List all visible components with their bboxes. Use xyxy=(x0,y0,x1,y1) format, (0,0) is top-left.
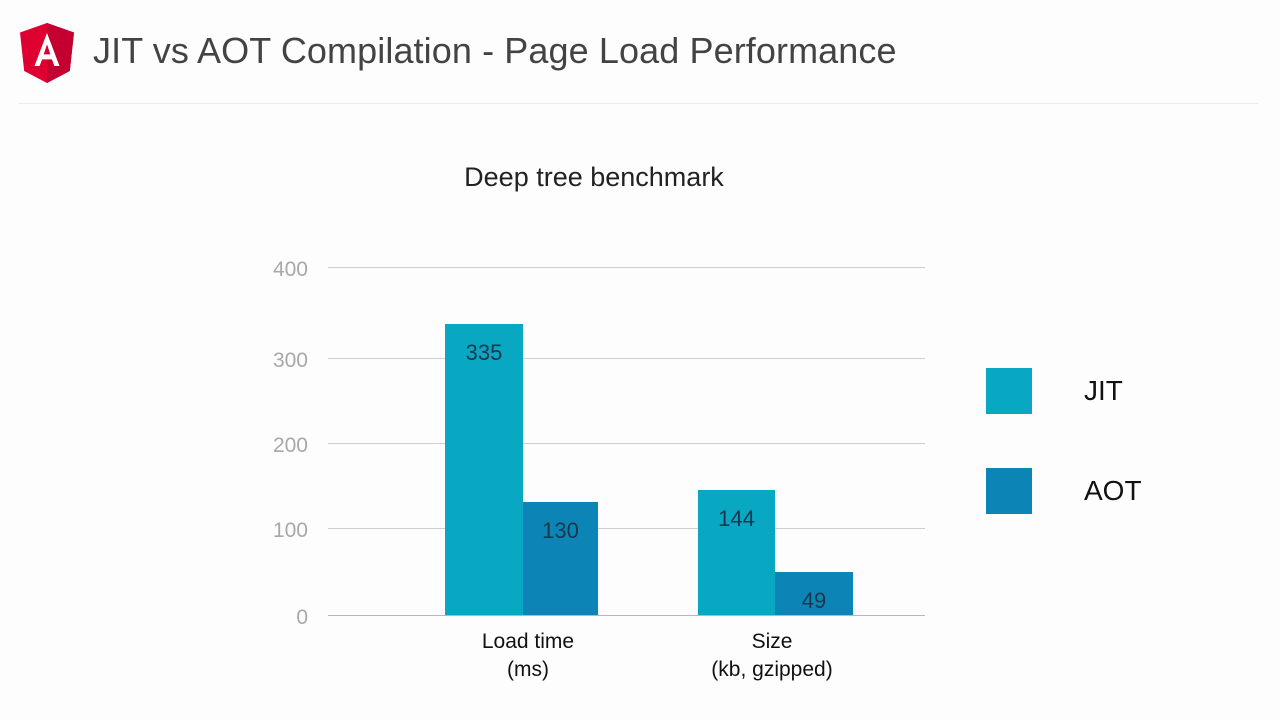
legend-swatch-aot-icon xyxy=(986,468,1032,514)
gridline-300 xyxy=(328,358,925,359)
gridline-200 xyxy=(328,443,925,444)
slide-header: JIT vs AOT Compilation - Page Load Perfo… xyxy=(0,0,1280,104)
bar-aot-load-time[interactable]: 130 xyxy=(523,502,598,615)
bar-jit-load-time[interactable]: 335 xyxy=(445,324,523,615)
category-label-size: Size (kb, gzipped) xyxy=(652,628,892,683)
ytick-label-300: 300 xyxy=(188,350,308,371)
axis-baseline xyxy=(328,615,925,616)
chart-region: Deep tree benchmark 400 300 200 100 0 33… xyxy=(0,104,1280,720)
ytick-label-0: 0 xyxy=(188,607,308,628)
ytick-label-100: 100 xyxy=(188,520,308,541)
legend-swatch-jit-icon xyxy=(986,368,1032,414)
bar-value-label: 130 xyxy=(523,520,598,542)
ytick-label-200: 200 xyxy=(188,435,308,456)
ytick-label-400: 400 xyxy=(188,259,308,280)
page-title: JIT vs AOT Compilation - Page Load Perfo… xyxy=(93,30,897,72)
legend-item-jit[interactable]: JIT xyxy=(986,368,1246,414)
bar-value-label: 335 xyxy=(445,342,523,364)
bar-value-label: 49 xyxy=(775,590,853,612)
category-label-load-time: Load time (ms) xyxy=(408,628,648,683)
gridline-400 xyxy=(328,267,925,268)
bar-value-label: 144 xyxy=(698,508,775,530)
legend-label-jit: JIT xyxy=(1084,377,1123,405)
legend-label-aot: AOT xyxy=(1084,477,1142,505)
legend-item-aot[interactable]: AOT xyxy=(986,468,1246,514)
gridline-100 xyxy=(328,528,925,529)
bar-aot-size[interactable]: 49 xyxy=(775,572,853,615)
bar-jit-size[interactable]: 144 xyxy=(698,490,775,615)
angular-shield-icon xyxy=(19,23,75,83)
chart-legend: JIT AOT xyxy=(986,368,1246,568)
